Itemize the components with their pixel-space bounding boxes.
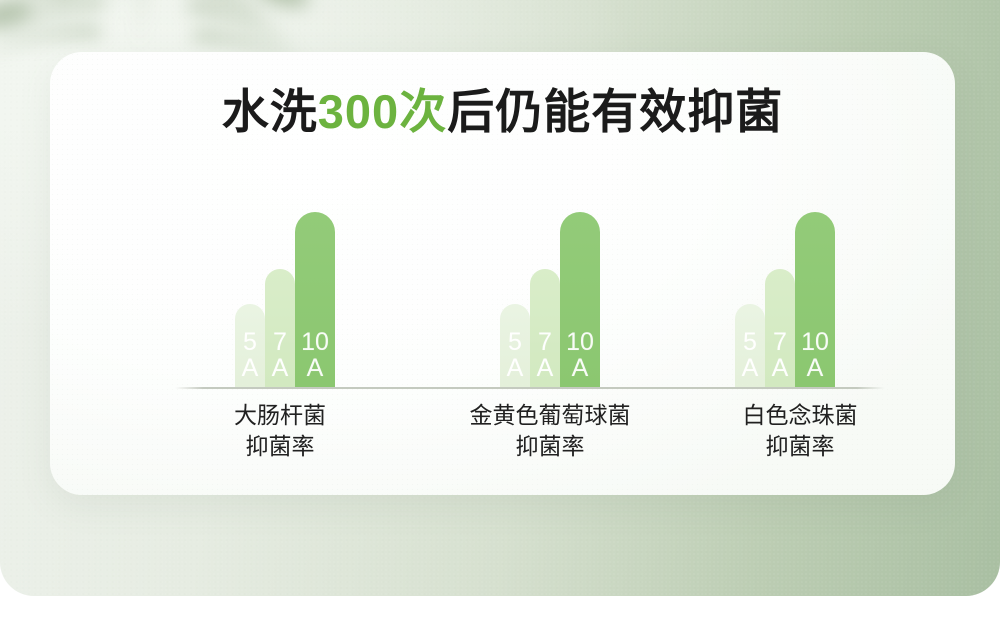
- bar-grade: A: [772, 356, 789, 382]
- category-label-line1: 金黄色葡萄球菌: [470, 402, 631, 428]
- category-label-line2: 抑菌率: [670, 431, 930, 462]
- bar-grade: A: [307, 356, 324, 382]
- category-label: 金黄色葡萄球菌 抑菌率: [420, 400, 680, 462]
- bar-value: 7: [538, 330, 552, 356]
- bar-group: 5 A 7 A 10 A: [235, 207, 335, 387]
- bar-10a: 10 A: [560, 212, 600, 387]
- category-label: 白色念珠菌 抑菌率: [670, 400, 930, 462]
- chart-baseline-axis: [175, 387, 885, 389]
- bar-grade: A: [742, 356, 759, 382]
- bar-grade: A: [537, 356, 554, 382]
- bar-7a: 7 A: [265, 269, 295, 387]
- category-label-line1: 白色念珠菌: [743, 402, 858, 428]
- bar-value: 7: [273, 330, 287, 356]
- bar-grade: A: [572, 356, 589, 382]
- category-label: 大肠杆菌 抑菌率: [150, 400, 410, 462]
- bar-5a: 5 A: [735, 304, 765, 387]
- category-label-line2: 抑菌率: [150, 431, 410, 462]
- bar-group: 5 A 7 A 10 A: [500, 207, 600, 387]
- info-card: 水洗300次后仍能有效抑菌 5 A 7 A 10 A: [50, 52, 955, 495]
- bar-value: 5: [743, 330, 757, 356]
- bar-grade: A: [242, 356, 259, 382]
- bar-value: 7: [773, 330, 787, 356]
- bar-5a: 5 A: [235, 304, 265, 387]
- category-label-line2: 抑菌率: [420, 431, 680, 462]
- category-label-line1: 大肠杆菌: [234, 402, 326, 428]
- bar-value: 5: [243, 330, 257, 356]
- bar-10a: 10 A: [795, 212, 835, 387]
- bar-grade: A: [272, 356, 289, 382]
- bar-10a: 10 A: [295, 212, 335, 387]
- bar-grade: A: [507, 356, 524, 382]
- bar-value: 10: [566, 330, 594, 356]
- bar-value: 5: [508, 330, 522, 356]
- bar-7a: 7 A: [530, 269, 560, 387]
- background-panel: 水洗300次后仍能有效抑菌 5 A 7 A 10 A: [0, 0, 1000, 596]
- bar-group: 5 A 7 A 10 A: [735, 207, 835, 387]
- bar-grade: A: [807, 356, 824, 382]
- bar-value: 10: [801, 330, 829, 356]
- bar-value: 10: [301, 330, 329, 356]
- bar-7a: 7 A: [765, 269, 795, 387]
- bar-chart: 5 A 7 A 10 A 5 A 7: [50, 52, 955, 495]
- bar-5a: 5 A: [500, 304, 530, 387]
